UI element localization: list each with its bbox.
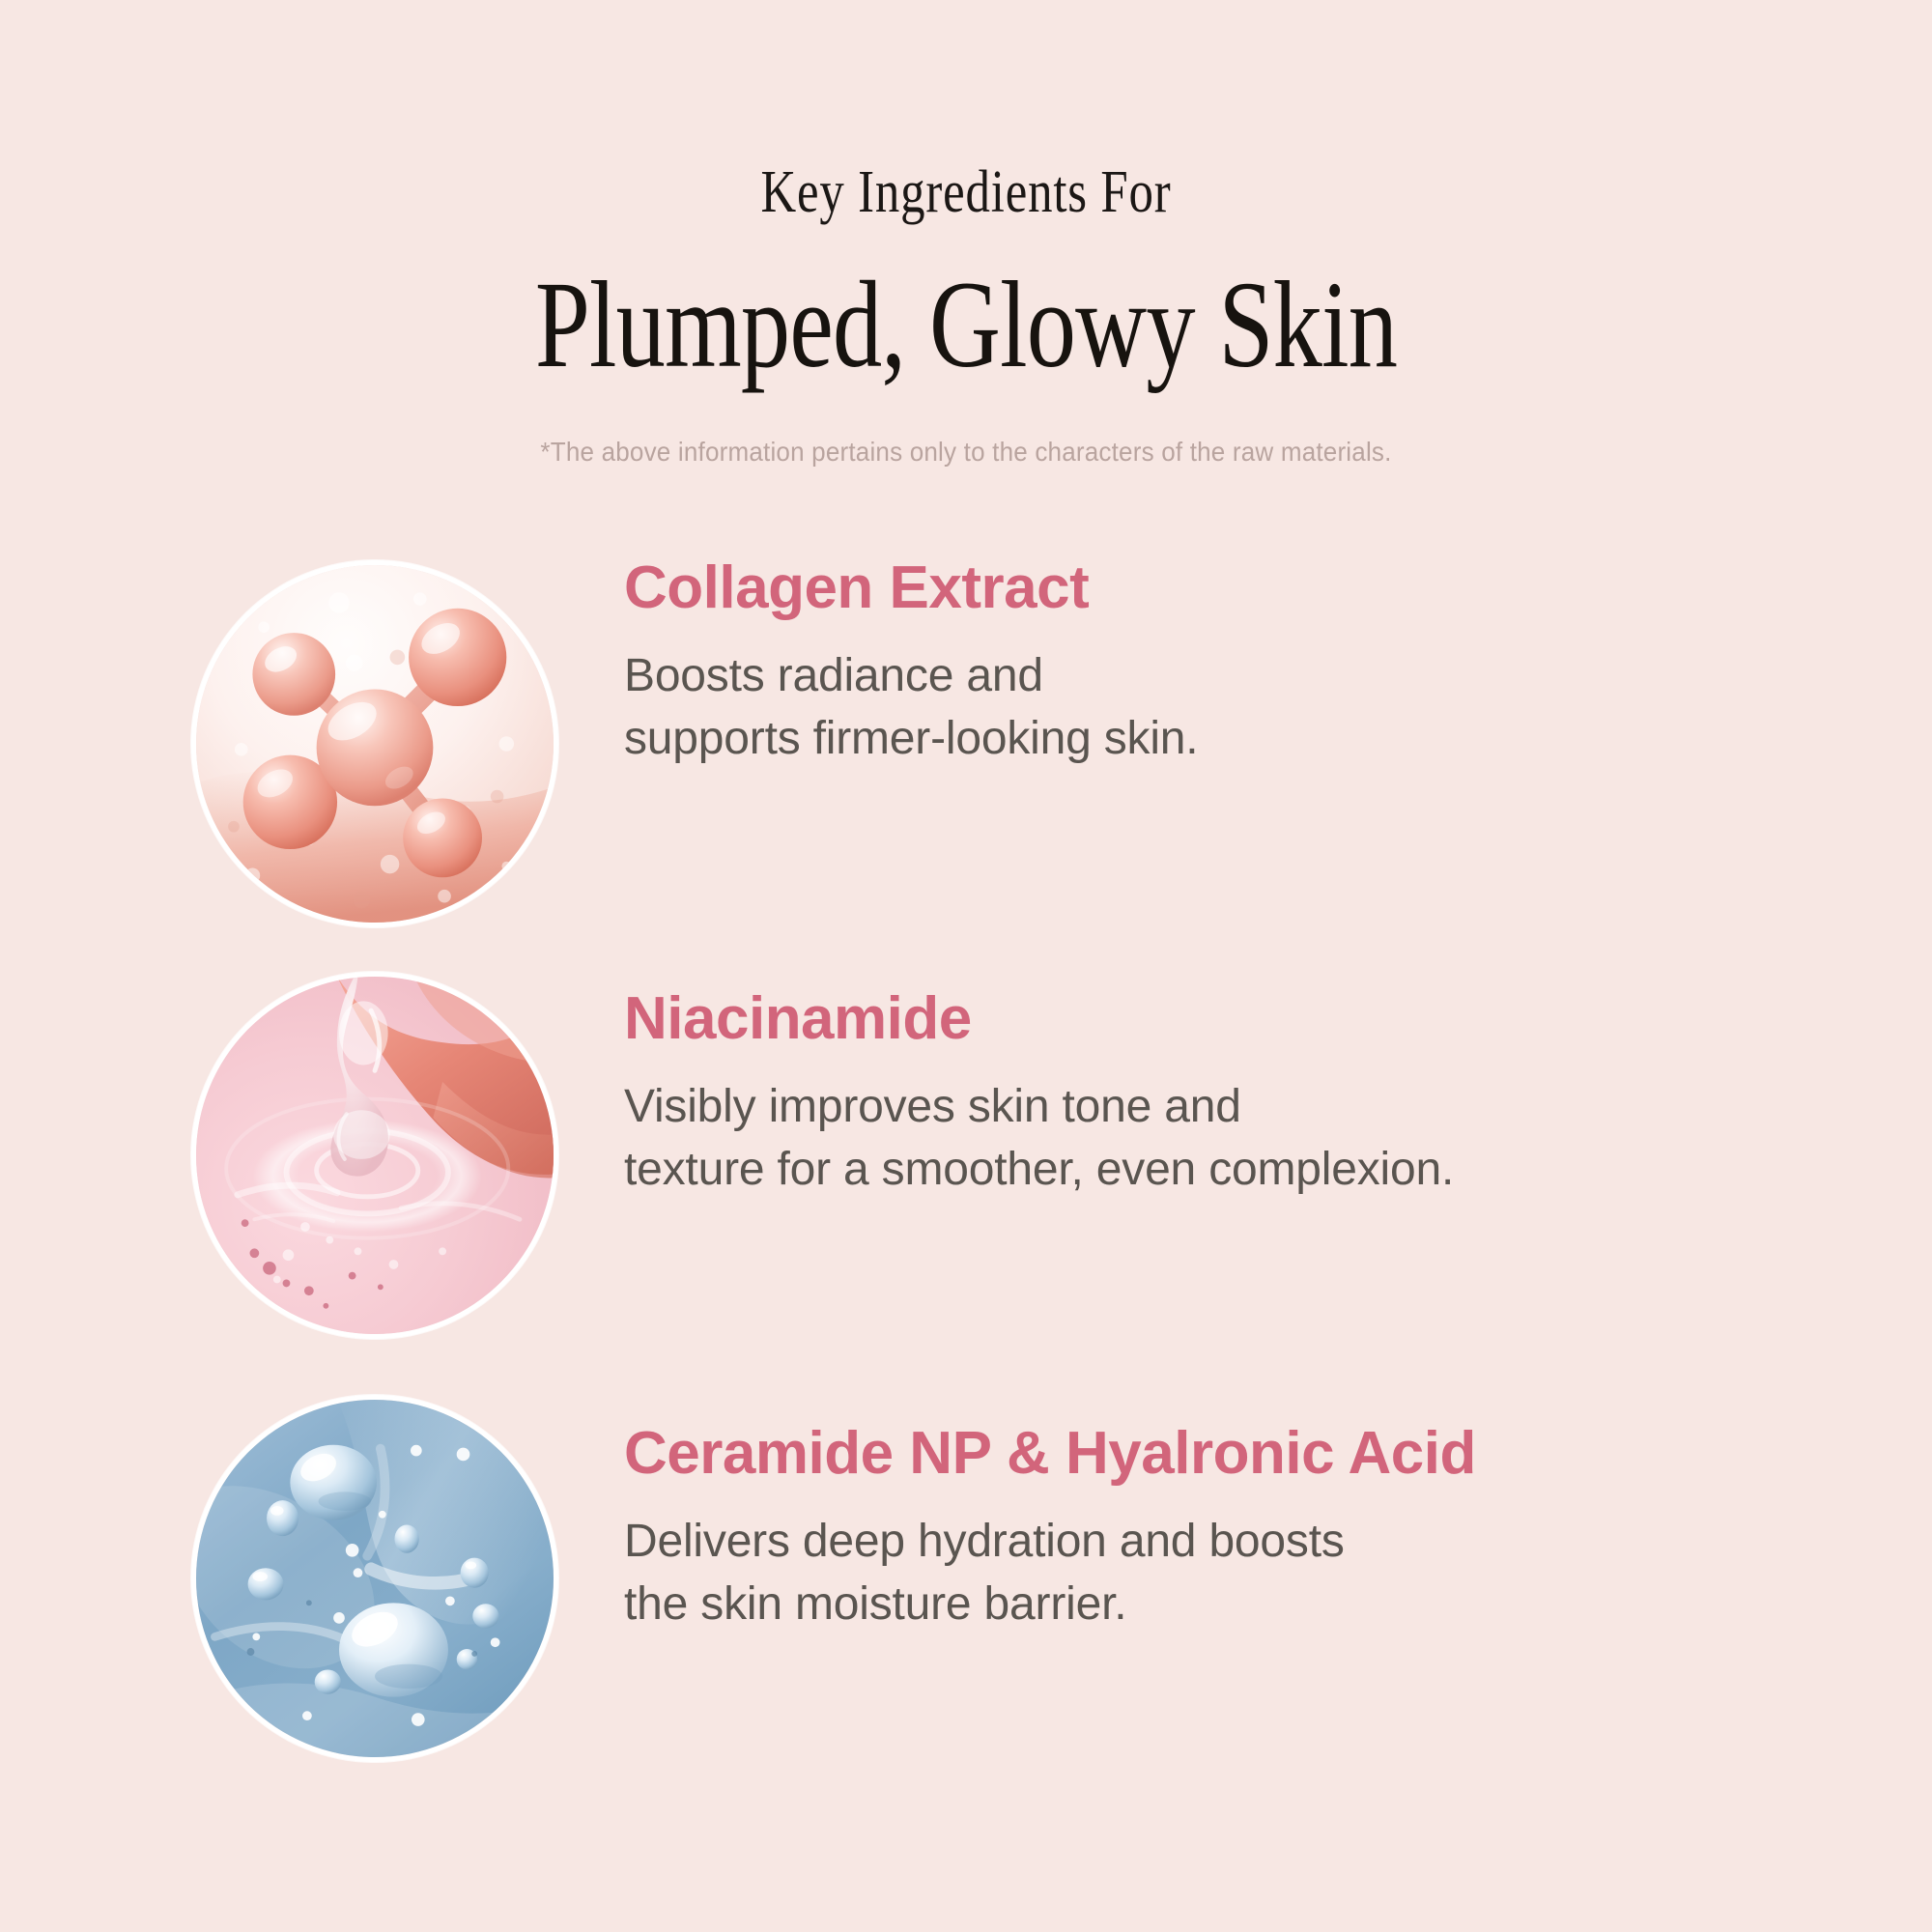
list-item: Niacinamide Visibly improves skin tone a… bbox=[0, 958, 1932, 1360]
ingredient-description: Delivers deep hydration and boosts the s… bbox=[624, 1510, 1932, 1636]
disclaimer-note: *The above information pertains only to … bbox=[68, 437, 1864, 468]
ingredient-text: Ceramide NP & Hyalronic Acid Delivers de… bbox=[624, 1381, 1932, 1636]
blue-water-droplets-photo bbox=[191, 1395, 558, 1762]
description-line: texture for a smoother, even complexion. bbox=[624, 1138, 1932, 1201]
description-line: Delivers deep hydration and boosts bbox=[624, 1510, 1932, 1573]
ingredient-list: Collagen Extract Boosts radiance and sup… bbox=[0, 547, 1932, 1783]
ingredients-infographic: Key Ingredients For Plumped, Glowy Skin … bbox=[0, 0, 1932, 1932]
ingredient-text: Collagen Extract Boosts radiance and sup… bbox=[624, 547, 1932, 771]
thumbnail-wrapper bbox=[191, 1381, 394, 1758]
page-title: Plumped, Glowy Skin bbox=[193, 263, 1739, 386]
pink-serum-droplet-photo bbox=[191, 972, 558, 1339]
eyebrow-text: Key Ingredients For bbox=[174, 162, 1758, 222]
description-line: supports firmer-looking skin. bbox=[624, 707, 1932, 770]
description-line: Boosts radiance and bbox=[624, 644, 1932, 707]
list-item: Collagen Extract Boosts radiance and sup… bbox=[0, 547, 1932, 949]
description-line: the skin moisture barrier. bbox=[624, 1573, 1932, 1635]
thumbnail-wrapper bbox=[191, 547, 394, 923]
thumbnail-wrapper bbox=[191, 958, 394, 1335]
ingredient-title: Collagen Extract bbox=[624, 556, 1932, 619]
ingredient-title: Ceramide NP & Hyalronic Acid bbox=[624, 1422, 1932, 1485]
ingredient-description: Boosts radiance and supports firmer-look… bbox=[624, 644, 1932, 771]
ingredient-text: Niacinamide Visibly improves skin tone a… bbox=[624, 958, 1932, 1202]
ingredient-description: Visibly improves skin tone and texture f… bbox=[624, 1075, 1932, 1202]
header-block: Key Ingredients For Plumped, Glowy Skin … bbox=[0, 0, 1932, 468]
collagen-molecule-photo bbox=[191, 560, 558, 927]
ingredient-title: Niacinamide bbox=[624, 987, 1932, 1050]
list-item: Ceramide NP & Hyalronic Acid Delivers de… bbox=[0, 1381, 1932, 1783]
description-line: Visibly improves skin tone and bbox=[624, 1075, 1932, 1138]
